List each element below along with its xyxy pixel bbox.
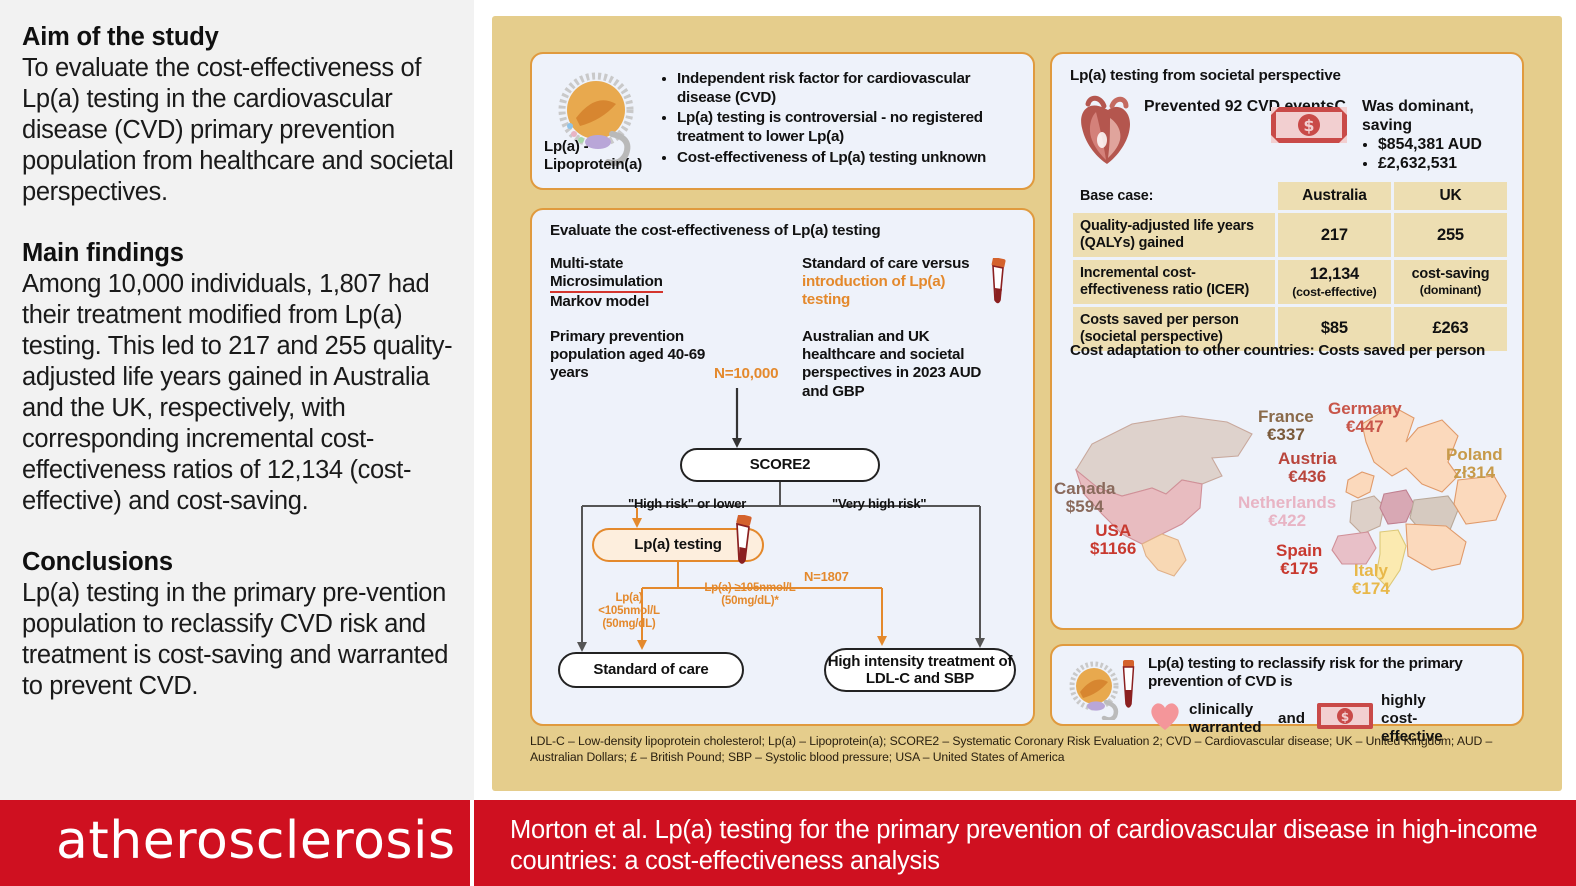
value-qalys-uk: 255 — [1394, 213, 1507, 257]
table-header-row: Base case: Australia UK — [1073, 182, 1507, 210]
map-label-usa: USA $1166 — [1090, 522, 1136, 558]
map-label-netherlands: Netherlands €422 — [1238, 494, 1336, 530]
money-banknote-icon: $ — [1270, 104, 1348, 146]
list-item: £2,632,531 — [1378, 155, 1522, 174]
uk-region — [1346, 472, 1374, 498]
list-item: Cost-effectiveness of Lp(a) testing unkn… — [677, 149, 1023, 168]
row-label-qalys: Quality-adjusted life years (QALYs) gain… — [1073, 213, 1275, 257]
comparison-description: Standard of care versus introduction of … — [802, 255, 982, 310]
societal-title: Lp(a) testing from societal perspective — [1070, 67, 1341, 84]
abbreviations-footnote: LDL-C – Low-density lipoprotein choleste… — [530, 734, 1524, 765]
heart-icon — [1074, 92, 1136, 166]
n-start-label: N=10,000 — [714, 365, 778, 383]
list-item: Independent risk factor for cardiovascul… — [677, 70, 1023, 107]
eastern-europe-region — [1454, 476, 1506, 524]
n-modified-label: N=1807 — [804, 570, 849, 585]
conclusion-text: Lp(a) testing to reclassify risk for the… — [1148, 655, 1516, 691]
connector-and: and — [1278, 710, 1305, 728]
map-label-austria: Austria €436 — [1278, 450, 1337, 486]
value-qalys-australia: 217 — [1278, 213, 1391, 257]
findings-heading: Main findings — [22, 238, 458, 269]
map-label-italy: Italy €174 — [1352, 562, 1390, 598]
branch-label-high-risk: "High risk" or lower — [628, 496, 746, 511]
spacer — [22, 517, 458, 547]
svg-text:$: $ — [1341, 710, 1349, 724]
table-row: Quality-adjusted life years (QALYs) gain… — [1073, 213, 1507, 257]
base-case-table: Base case: Australia UK Quality-adjusted… — [1070, 179, 1510, 354]
claim-clinically-warranted: clinically warranted — [1189, 701, 1271, 737]
conclusion-card: Lp(a) testing to reclassify risk for the… — [1050, 644, 1524, 726]
list-item: Lp(a) testing is controversial - no regi… — [677, 109, 1023, 146]
graphical-abstract-panel: Lp(a) - Lipoprotein(a) Independent risk … — [492, 16, 1562, 791]
map-label-canada: Canada $594 — [1054, 480, 1115, 516]
aim-heading: Aim of the study — [22, 22, 458, 53]
model-description: Multi-state Microsimulation Markov model — [550, 255, 730, 312]
map-title: Cost adaptation to other countries: Cost… — [1070, 342, 1500, 360]
population-description: Primary prevention population aged 40-69… — [550, 328, 715, 383]
germany-region — [1380, 490, 1414, 524]
lpa-caption: Lp(a) - Lipoprotein(a) — [544, 138, 654, 174]
table-row: Incremental cost-effectiveness ratio (IC… — [1073, 260, 1507, 304]
summary-panel: Aim of the study To evaluate the cost-ef… — [0, 0, 474, 800]
money-small-icon: $ — [1316, 701, 1374, 736]
lipoprotein-and-tube-icon — [1066, 654, 1140, 720]
conclusions-heading: Conclusions — [22, 547, 458, 578]
row-label-icer: Incremental cost-effectiveness ratio (IC… — [1073, 260, 1275, 304]
journal-banner: atherosclerosis Morton et al. Lp(a) test… — [0, 800, 1576, 886]
spacer — [22, 208, 458, 238]
world-map: Canada $594 USA $1166 France €337 German… — [1062, 384, 1518, 624]
article-title: Morton et al. Lp(a) testing for the prim… — [510, 815, 1550, 876]
heart-small-icon — [1148, 701, 1182, 736]
dominant-heading: Was dominant, saving — [1362, 98, 1522, 136]
node-high-intensity-treatment: High intensity treatment of LDL-C and SB… — [824, 648, 1016, 692]
map-label-spain: Spain €175 — [1276, 542, 1322, 578]
svg-text:$: $ — [1303, 116, 1314, 135]
flowchart-title: Evaluate the cost-effectiveness of Lp(a)… — [550, 222, 881, 239]
banner-divider — [470, 800, 474, 886]
spain-region — [1332, 532, 1376, 564]
node-score2: SCORE2 — [680, 448, 880, 482]
aim-body: To evaluate the cost-effectiveness of Lp… — [22, 53, 458, 208]
findings-body: Among 10,000 individuals, 1,807 had thei… — [22, 269, 458, 517]
blood-tube-icon — [987, 258, 1009, 306]
list-item: $854,381 AUD — [1378, 136, 1522, 155]
column-header-australia: Australia — [1278, 182, 1391, 210]
journal-logo: atherosclerosis — [56, 811, 456, 871]
perspectives-description: Australian and UK healthcare and societa… — [802, 328, 992, 401]
lpa-bullet-list: Independent risk factor for cardiovascul… — [660, 70, 1023, 169]
node-standard-of-care: Standard of care — [558, 652, 744, 688]
lpa-definition-card: Lp(a) - Lipoprotein(a) Independent risk … — [530, 52, 1035, 190]
balkans-region — [1406, 524, 1466, 570]
value-icer-uk: cost-saving (dominant) — [1394, 260, 1507, 304]
map-label-germany: Germany €447 — [1328, 400, 1402, 436]
threshold-label-low: Lp(a) <105nmol/L (50mg/dL) — [590, 592, 668, 632]
branch-label-very-high-risk: "Very high risk" — [832, 496, 926, 511]
base-case-label: Base case: — [1073, 182, 1275, 210]
map-label-poland: Poland zł314 — [1446, 446, 1503, 482]
map-label-france: France €337 — [1258, 408, 1314, 444]
dominant-saving-block: Was dominant, saving $854,381 AUD £2,632… — [1362, 98, 1522, 174]
flowchart-card: Evaluate the cost-effectiveness of Lp(a)… — [530, 208, 1035, 726]
conclusions-body: Lp(a) testing in the primary pre-vention… — [22, 578, 458, 702]
threshold-label-high: Lp(a) ≥105nmol/L (50mg/dL)* — [704, 582, 796, 608]
blood-tube-icon — [730, 515, 756, 567]
societal-results-card: Lp(a) testing from societal perspective … — [1050, 52, 1524, 630]
mexico-region — [1142, 534, 1186, 576]
france-region — [1350, 496, 1384, 534]
value-icer-australia: 12,134 (cost-effective) — [1278, 260, 1391, 304]
column-header-uk: UK — [1394, 182, 1507, 210]
